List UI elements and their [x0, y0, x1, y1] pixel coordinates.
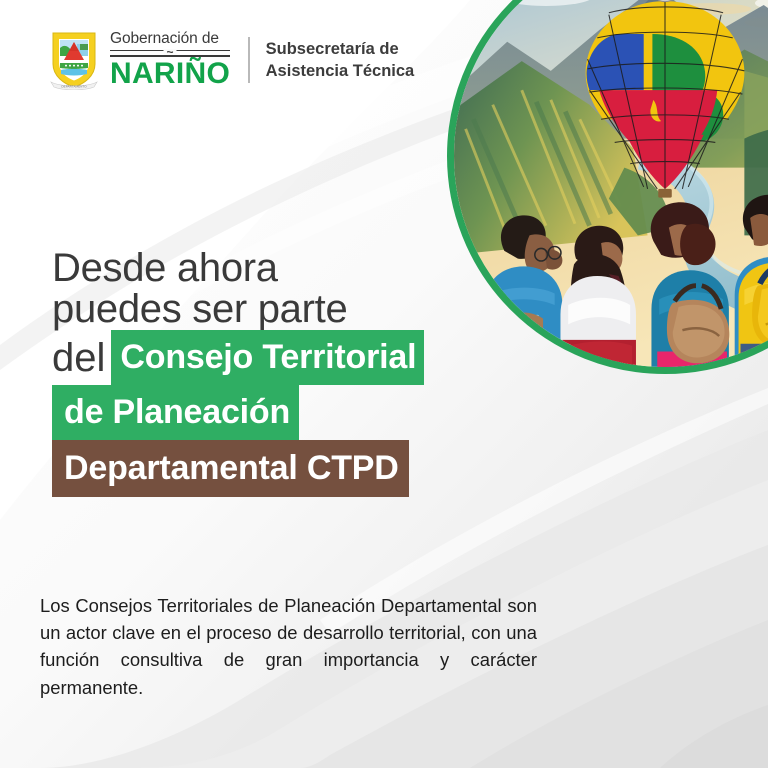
headline-line-2: puedes ser parte [52, 289, 522, 329]
poster-canvas: DEPARTAMENTO Gobernación de ~ NARIÑO Sub… [0, 0, 768, 768]
highlight-chip-consejo-territorial: Consejo Territorial [111, 330, 424, 385]
headline-line-1: Desde ahora [52, 248, 522, 288]
headline-line-5: Departamental CTPD [64, 440, 522, 497]
body-paragraph-block: Los Consejos Territoriales de Planeación… [40, 592, 537, 701]
headline-block: Desde ahora puedes ser parte del Consejo… [52, 248, 522, 498]
body-paragraph: Los Consejos Territoriales de Planeación… [40, 592, 537, 701]
svg-text:DEPARTAMENTO: DEPARTAMENTO [61, 84, 87, 88]
highlight-chip-departamental-ctpd: Departamental CTPD [52, 440, 409, 497]
headline-line-4: de Planeación [64, 385, 522, 440]
headline-line-3: del Consejo Territorial [52, 330, 522, 385]
headline-text-1: Desde ahora [52, 246, 278, 290]
header-divider [248, 37, 250, 83]
brand-header: DEPARTAMENTO Gobernación de ~ NARIÑO Sub… [50, 30, 414, 90]
gobernacion-wordmark: Gobernación de ~ NARIÑO [110, 31, 230, 88]
subsecretaria-line-1: Subsecretaría de [266, 38, 415, 60]
headline-text-3-prefix: del [52, 330, 105, 378]
department-label: NARIÑO [110, 59, 230, 89]
headline-text-2: puedes ser parte [52, 287, 347, 331]
wordmark-rule: ~ [110, 50, 230, 57]
highlight-chip-de-planeacion: de Planeación [52, 385, 299, 440]
tilde-mark: ~ [164, 49, 177, 56]
subsecretaria-line-2: Asistencia Técnica [266, 60, 415, 82]
narino-coat-of-arms-icon: DEPARTAMENTO [50, 30, 98, 90]
subsecretaria-title: Subsecretaría de Asistencia Técnica [266, 38, 415, 83]
